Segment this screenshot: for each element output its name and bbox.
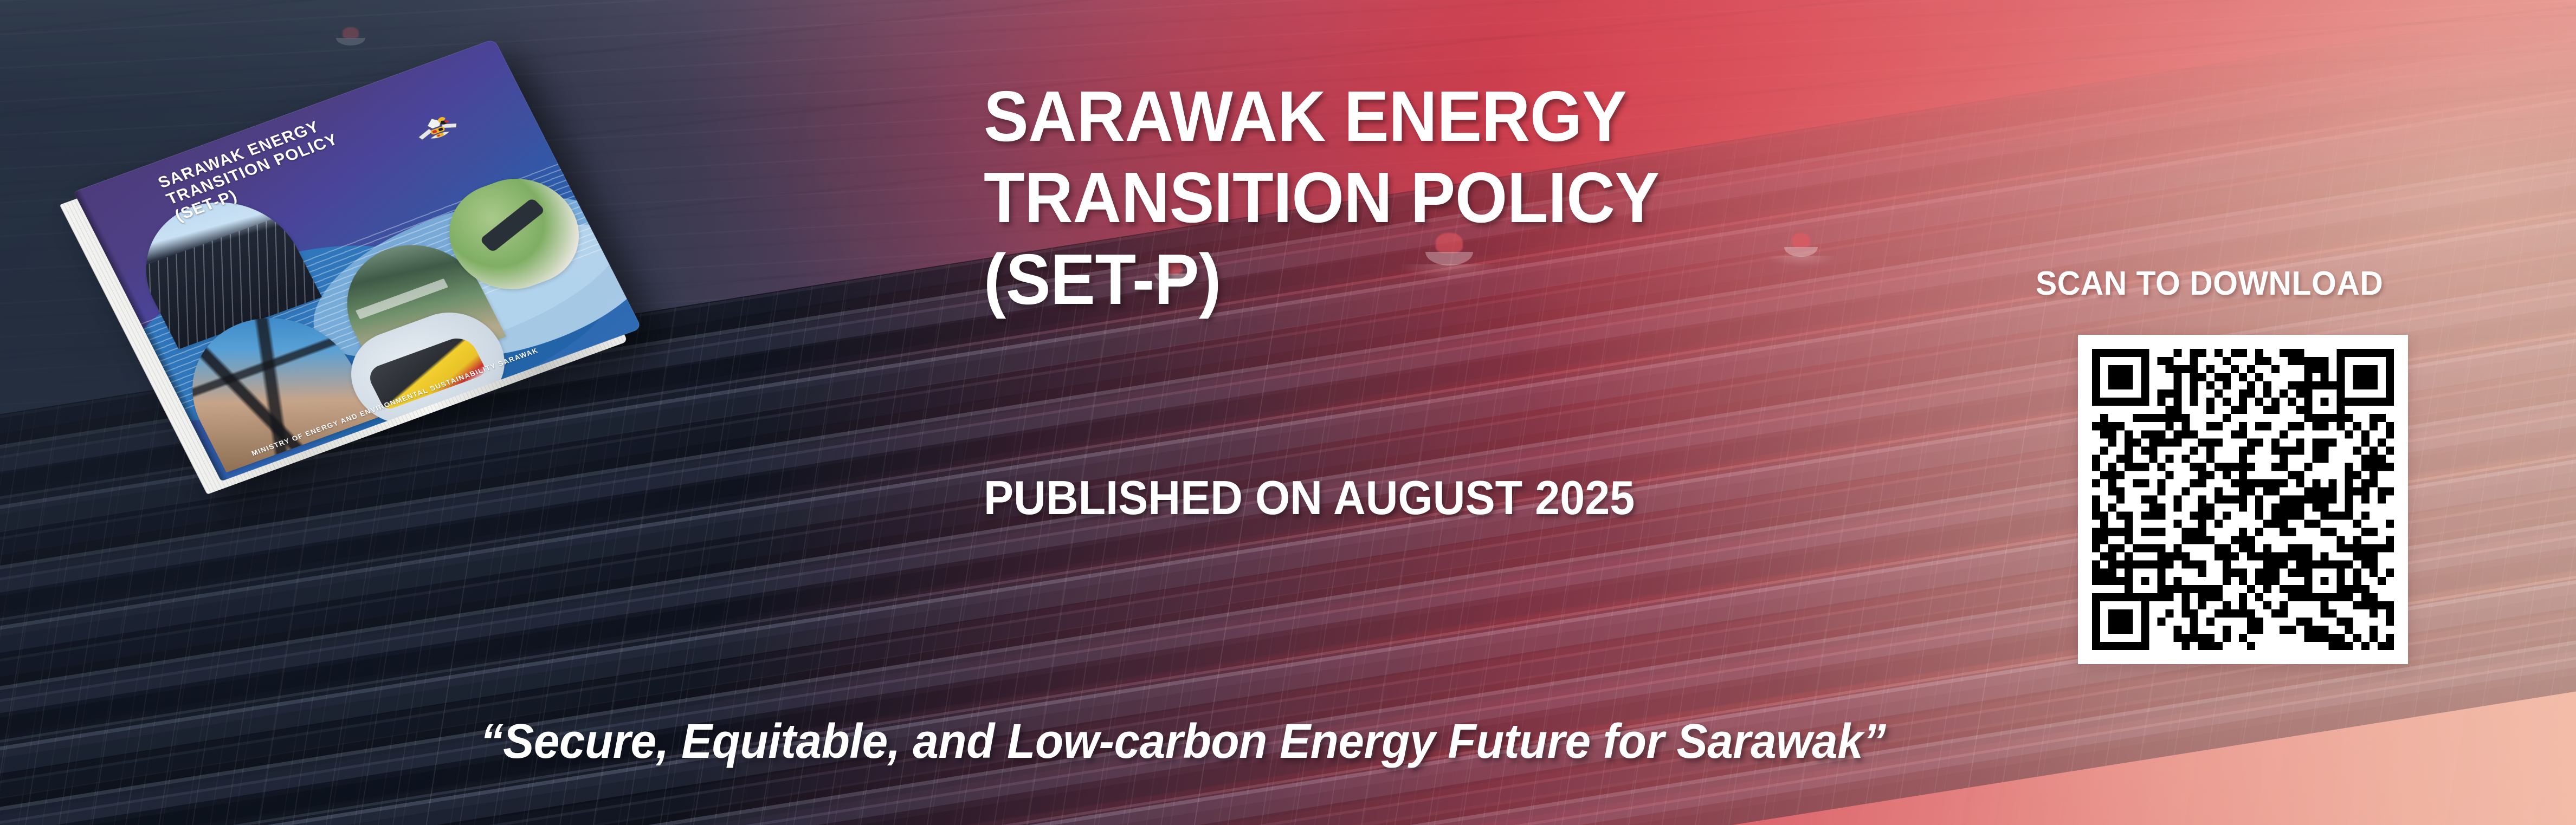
sarawak-state-crest-icon bbox=[407, 106, 468, 155]
page-title-line-2: (SET-P) bbox=[984, 239, 1952, 320]
boat-4 bbox=[336, 27, 365, 46]
boat-crew bbox=[343, 27, 359, 38]
page-title-line-1: SARAWAK ENERGY TRANSITION POLICY bbox=[984, 76, 1952, 239]
publication-date: PUBLISHED ON AUGUST 2025 bbox=[984, 470, 1635, 525]
set-p-promotional-banner: SARAWAK ENERGY TRANSITION POLICY (SET-P) bbox=[0, 0, 2576, 825]
book-front-cover: SARAWAK ENERGY TRANSITION POLICY (SET-P) bbox=[74, 38, 642, 481]
scan-to-download-label: SCAN TO DOWNLOAD bbox=[2036, 264, 2383, 303]
policy-tagline: “Secure, Equitable, and Low-carbon Energ… bbox=[480, 714, 1886, 770]
page-title: SARAWAK ENERGY TRANSITION POLICY (SET-P) bbox=[984, 76, 1952, 320]
boat-hull bbox=[336, 38, 365, 46]
book-mockup: SARAWAK ENERGY TRANSITION POLICY (SET-P) bbox=[65, 76, 824, 498]
qr-code-image[interactable] bbox=[2092, 349, 2394, 650]
qr-code-panel[interactable] bbox=[2078, 335, 2408, 664]
